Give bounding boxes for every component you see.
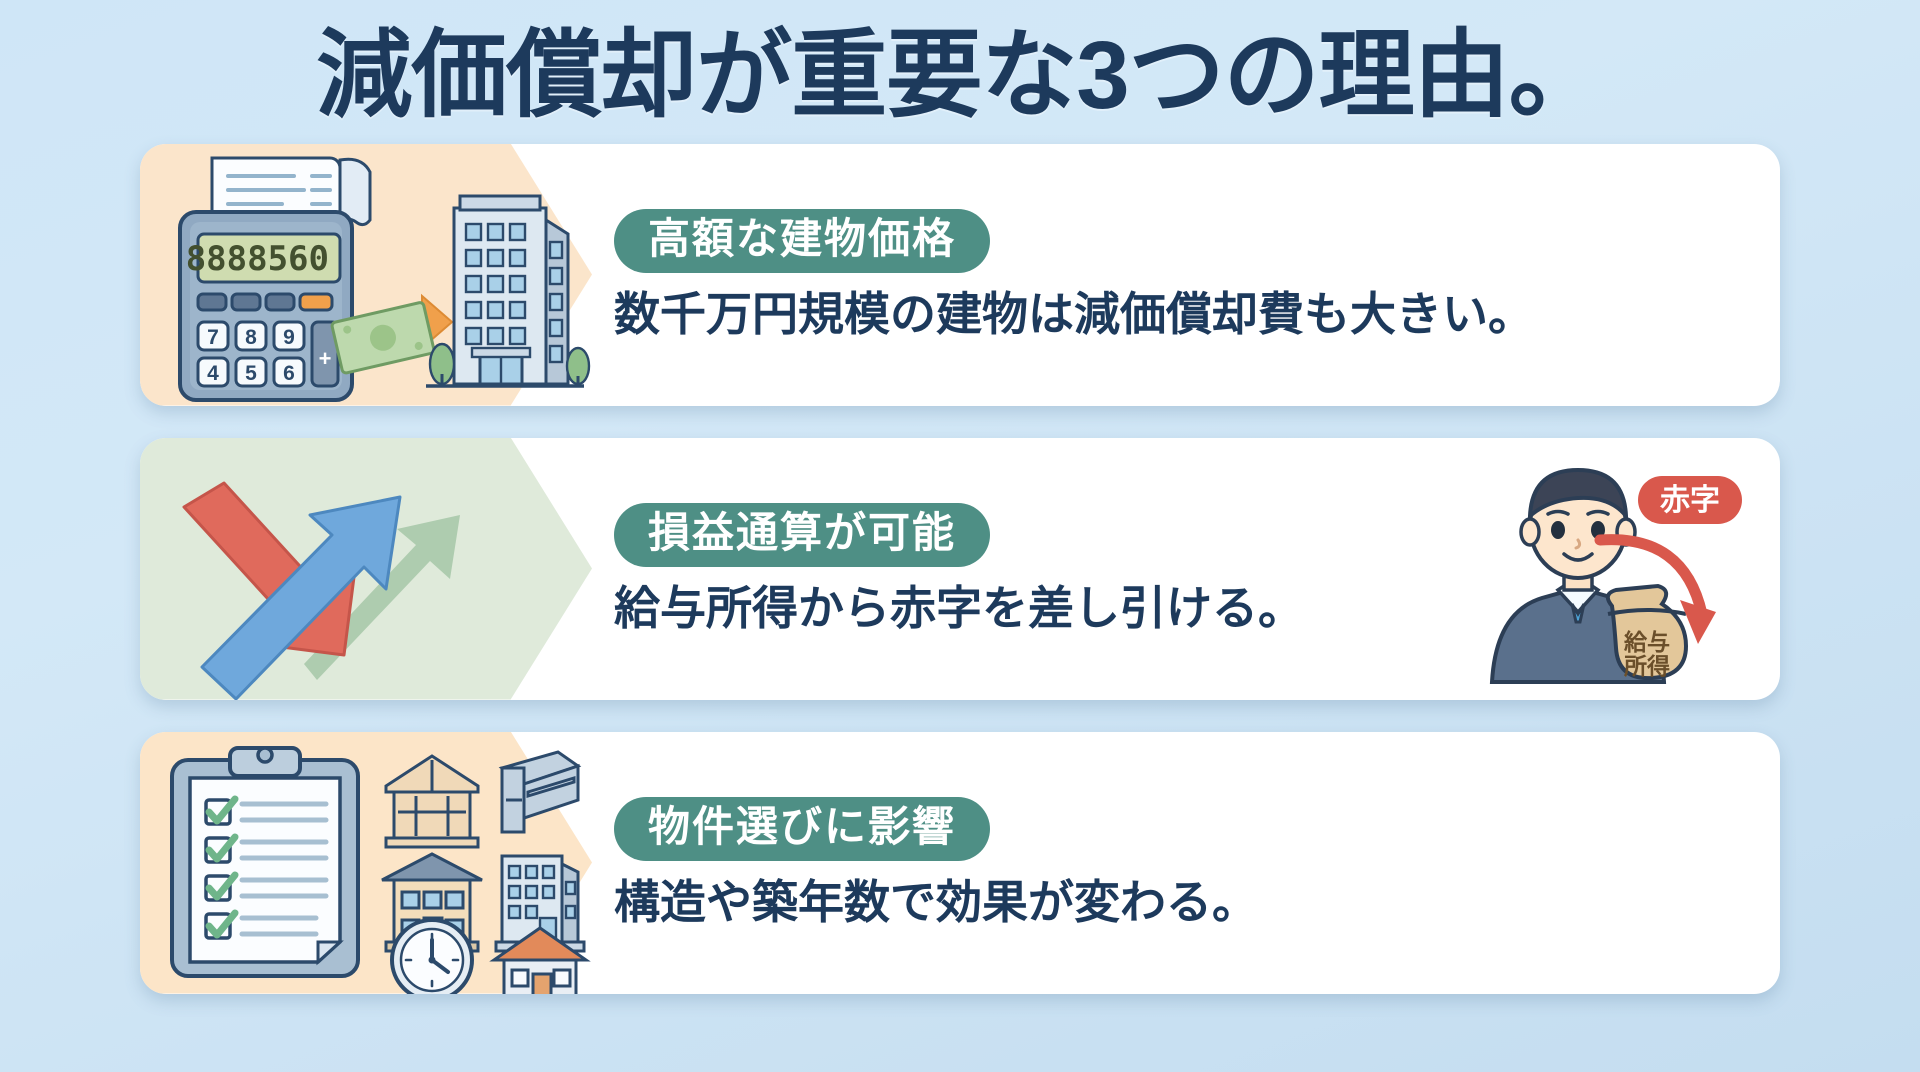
reason-card-3[interactable]: 物件選びに影響 構造や築年数で効果が変わる。 [140, 732, 1780, 994]
svg-text:+: + [319, 346, 332, 371]
crossing-arrows-illustration [154, 449, 554, 689]
card-1-illustration-panel: 8888560 [140, 144, 592, 406]
card-1-badge: 高額な建物価格 [614, 209, 990, 273]
wood-frame-icon [386, 756, 478, 847]
salaryman-offset-illustration: 給与 所得 赤字 [1474, 454, 1774, 684]
steel-frame-icon [502, 752, 578, 832]
card-3-description: 構造や築年数で効果が変わる。 [614, 877, 1752, 928]
svg-text:4: 4 [207, 362, 219, 385]
reason-card-list: 8888560 [140, 144, 1780, 994]
calculator-display-value: 8888560 [186, 239, 329, 279]
page-title: 減価償却が重要な3つの理由。 [0, 0, 1920, 130]
svg-text:8: 8 [245, 326, 257, 349]
reason-card-2[interactable]: 損益通算が可能 給与所得から赤字を差し引ける。 [140, 438, 1780, 700]
card-1-description: 数千万円規模の建物は減価償却費も大きい。 [614, 289, 1752, 340]
reason-card-1[interactable]: 8888560 [140, 144, 1780, 406]
money-bag-label-line1: 給与 [1623, 629, 1670, 655]
card-3-badge: 物件選びに影響 [614, 797, 990, 861]
money-bag-label-line2: 所得 [1623, 653, 1670, 679]
svg-text:7: 7 [207, 326, 219, 349]
svg-text:9: 9 [283, 326, 295, 349]
svg-text:5: 5 [245, 362, 257, 385]
svg-text:6: 6 [283, 362, 295, 385]
card-3-body: 物件選びに影響 構造や築年数で効果が変わる。 [592, 732, 1780, 994]
card-2-illustration-panel [140, 438, 592, 700]
calculator-building-illustration: 8888560 [154, 150, 584, 400]
card-3-illustration-panel [140, 732, 592, 994]
deficit-badge-label: 赤字 [1660, 484, 1720, 517]
clock-icon [392, 920, 472, 994]
checklist-buildings-illustration [154, 738, 584, 988]
card-2-body: 損益通算が可能 給与所得から赤字を差し引ける。 [592, 438, 1780, 700]
card-1-body: 高額な建物価格 数千万円規模の建物は減価償却費も大きい。 [592, 144, 1780, 406]
card-2-badge: 損益通算が可能 [614, 503, 990, 567]
